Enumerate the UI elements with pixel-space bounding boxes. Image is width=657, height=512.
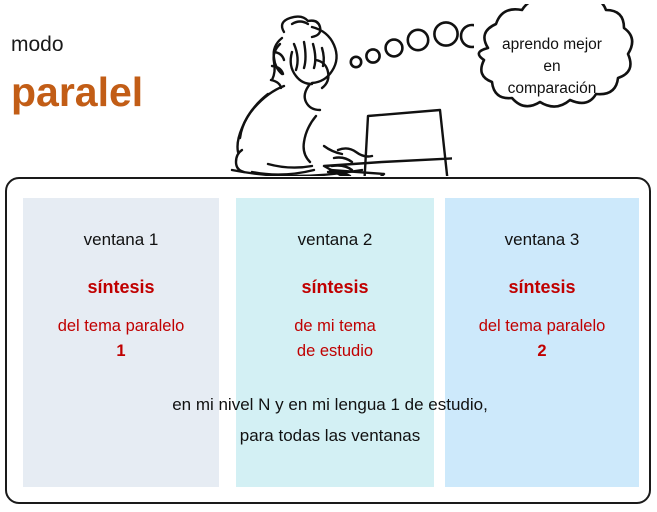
window-column-2-line-1: de mi tema: [236, 314, 434, 339]
window-column-3-line-2: 2: [445, 339, 639, 364]
windows-panel: ventana 1 síntesis del tema paralelo 1 v…: [5, 177, 651, 504]
window-column-3-synthesis: síntesis: [445, 275, 639, 299]
window-column-1-line-2: 1: [23, 339, 219, 364]
window-column-3: ventana 3 síntesis del tema paralelo 2: [445, 198, 639, 487]
window-column-1-content: ventana 1 síntesis del tema paralelo 1: [23, 198, 219, 364]
window-column-1-line-1: del tema paralelo: [23, 314, 219, 339]
window-column-1-title: ventana 1: [23, 229, 219, 251]
mode-value: paralel: [11, 68, 143, 116]
thought-bubble-line-3: comparación: [508, 78, 597, 100]
window-column-3-content: ventana 3 síntesis del tema paralelo 2: [445, 198, 639, 364]
window-column-2-synthesis: síntesis: [236, 275, 434, 299]
window-column-2: ventana 2 síntesis de mi tema de estudio: [236, 198, 434, 487]
header-area: modo paralel: [0, 0, 657, 177]
window-column-3-title: ventana 3: [445, 229, 639, 251]
thought-bubble-line-1: aprendo mejor: [502, 34, 602, 56]
window-column-1: ventana 1 síntesis del tema paralelo 1: [23, 198, 219, 487]
window-column-2-content: ventana 2 síntesis de mi tema de estudio: [236, 198, 434, 364]
window-column-1-synthesis: síntesis: [23, 275, 219, 299]
window-column-2-line-2: de estudio: [236, 339, 434, 364]
mode-label: modo: [11, 33, 64, 57]
thought-bubble-line-2: en: [543, 56, 560, 78]
thought-bubble-text: aprendo mejor en comparación: [452, 4, 652, 126]
thought-bubble: aprendo mejor en comparación: [452, 4, 652, 126]
window-column-3-line-1: del tema paralelo: [445, 314, 639, 339]
window-column-2-title: ventana 2: [236, 229, 434, 251]
